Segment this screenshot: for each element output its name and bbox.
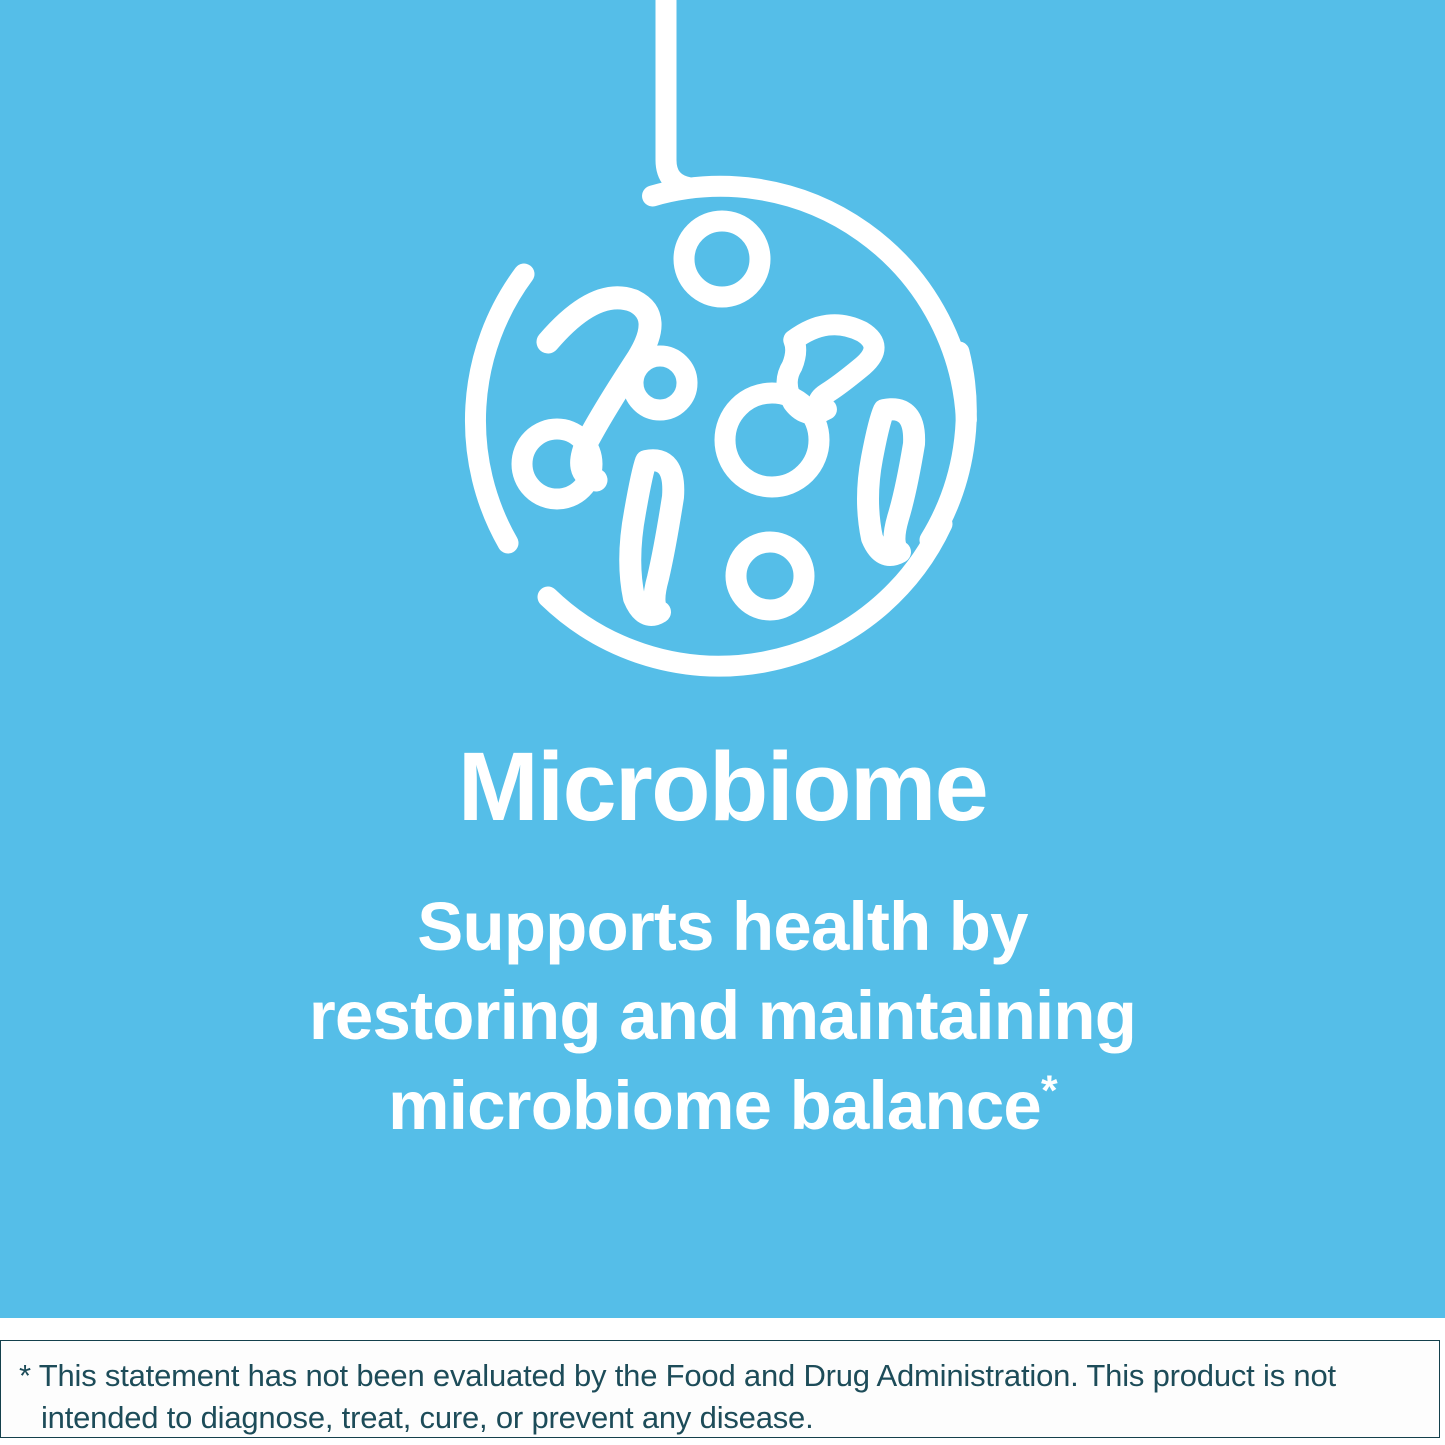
hero-panel: Microbiome Supports health by restoring …: [0, 0, 1445, 1318]
icon-bacteria-rod-upper-right: [783, 319, 877, 421]
disclaimer-line-2: intended to diagnose, treat, cure, or pr…: [19, 1397, 1419, 1438]
product-benefit-card: Microbiome Supports health by restoring …: [0, 0, 1445, 1445]
icon-stem-line: [666, 0, 690, 188]
footnote-marker: *: [1041, 1067, 1057, 1115]
icon-cell-ring-bottom-right: [736, 542, 804, 610]
icon-bacteria-rod-right: [868, 409, 914, 555]
page-title: Microbiome: [0, 735, 1445, 840]
icon-bacteria-rod-lower-center: [630, 460, 673, 615]
microbiome-icon: [0, 0, 1445, 700]
icon-rim-arc-left: [475, 274, 524, 543]
icon-cell-ring-top: [684, 221, 760, 297]
benefit-line-3: microbiome balance*: [0, 1061, 1445, 1151]
benefit-description: Supports health by restoring and maintai…: [0, 882, 1445, 1151]
disclaimer-text: * This statement has not been evaluated …: [19, 1355, 1419, 1438]
benefit-line-3-text: microbiome balance: [388, 1067, 1041, 1144]
benefit-line-1: Supports health by: [0, 882, 1445, 972]
disclaimer-box: * This statement has not been evaluated …: [0, 1340, 1440, 1438]
disclaimer-line-1: This statement has not been evaluated by…: [39, 1358, 1336, 1393]
disclaimer-marker: *: [19, 1358, 31, 1393]
benefit-line-2: restoring and maintaining: [0, 971, 1445, 1061]
icon-rim-arc-right: [930, 352, 966, 540]
icon-container: [0, 0, 1445, 700]
headline-block: Microbiome Supports health by restoring …: [0, 735, 1445, 1151]
